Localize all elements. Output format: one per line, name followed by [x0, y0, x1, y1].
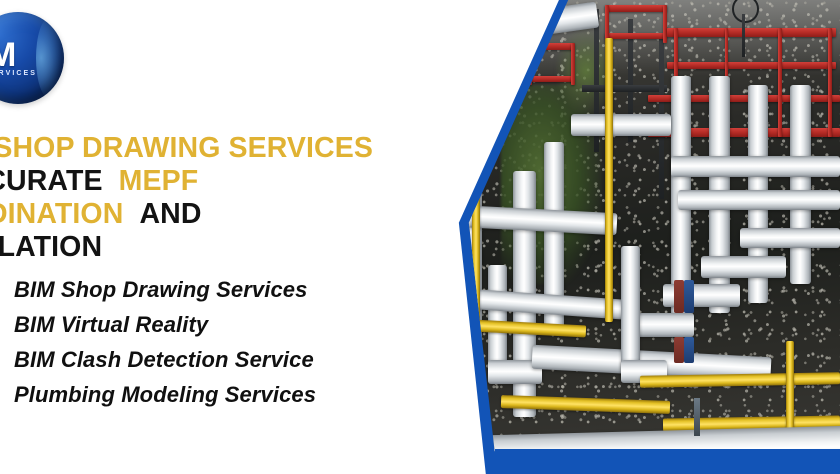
- insulated-pipe: [790, 85, 811, 284]
- photo-clip: [455, 0, 840, 474]
- insulated-pipe: [486, 19, 507, 104]
- pipe-band-blue: [684, 280, 693, 313]
- photo-bottom-stripe: [495, 449, 840, 458]
- red-railing: [667, 62, 836, 69]
- left-content-pane: M SERVICES AC SHOP DRAWING SERVICES ACCU…: [0, 0, 470, 474]
- headline: AC SHOP DRAWING SERVICES ACCURATE MEPF O…: [0, 132, 464, 264]
- list-item-label: BIM Virtual Reality: [14, 312, 208, 337]
- logo-subtitle: SERVICES: [0, 70, 37, 77]
- insulated-pipe-elbow: [701, 256, 786, 278]
- valve-stem: [742, 14, 745, 57]
- list-item-label: BIM Clash Detection Service: [14, 347, 314, 372]
- logo-monogram: M: [0, 38, 15, 72]
- red-railing-post: [605, 5, 609, 43]
- headline-line-1-text: AC SHOP DRAWING SERVICES: [0, 132, 373, 164]
- headline-line-3-gold: ORDINATION: [0, 198, 123, 230]
- list-item-label: Plumbing Modeling Services: [14, 382, 316, 407]
- red-railing: [482, 43, 574, 51]
- headline-line-3-dark: AND: [139, 198, 201, 230]
- headline-line-4-text: TALLATION: [0, 231, 102, 263]
- headline-line-2-dark: ACCURATE: [0, 165, 103, 197]
- photo-panel: [455, 0, 840, 474]
- red-railing-post: [571, 43, 575, 86]
- red-railing-post: [778, 28, 782, 137]
- insulated-pipe-bend: [621, 246, 640, 369]
- pipe-support-bracket: [694, 398, 700, 436]
- insulated-pipe: [571, 114, 671, 136]
- headline-line-2: ACCURATE MEPF: [0, 165, 464, 198]
- pipe-band-blue: [684, 337, 693, 363]
- services-list: BIM Shop Drawing Services BIM Virtual Re…: [0, 276, 316, 416]
- insulated-pipe-elbow: [740, 228, 840, 249]
- red-railing-post: [828, 28, 832, 137]
- pipe-band-red: [674, 337, 683, 363]
- marketing-banner: M SERVICES AC SHOP DRAWING SERVICES ACCU…: [0, 0, 840, 474]
- list-item[interactable]: BIM Virtual Reality: [0, 311, 316, 338]
- red-railing: [605, 5, 667, 12]
- list-item[interactable]: Plumbing Modeling Services: [0, 381, 316, 408]
- pipe-band-red: [674, 280, 683, 313]
- red-railing-post: [482, 43, 486, 86]
- red-railing: [605, 33, 667, 39]
- headline-line-2-gold: MEPF: [119, 165, 199, 197]
- red-railing-post: [663, 5, 667, 43]
- bim-services-logo[interactable]: M SERVICES: [0, 12, 64, 104]
- steel-frame: [582, 85, 667, 92]
- insulated-pipe-bend: [488, 265, 507, 369]
- headline-line-3: ORDINATION AND: [0, 198, 464, 231]
- insulated-pipe: [671, 156, 840, 177]
- red-railing: [667, 28, 836, 37]
- list-item[interactable]: BIM Shop Drawing Services: [0, 276, 316, 303]
- list-item[interactable]: BIM Clash Detection Service: [0, 346, 316, 373]
- headline-line-1: AC SHOP DRAWING SERVICES: [0, 132, 464, 165]
- industrial-piping-photo: [455, 0, 840, 474]
- yellow-gas-pipe: [786, 341, 794, 436]
- yellow-gas-pipe: [605, 38, 613, 322]
- insulated-pipe: [678, 190, 840, 210]
- headline-line-4: TALLATION: [0, 231, 464, 264]
- list-item-label: BIM Shop Drawing Services: [14, 277, 307, 302]
